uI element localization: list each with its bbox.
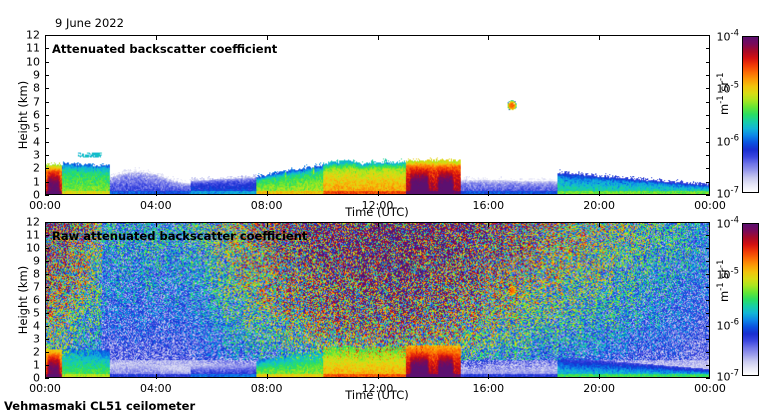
y-tick-mark-right xyxy=(706,235,710,236)
y-axis-title-panel1: Height (km) xyxy=(16,260,30,340)
colorbar-tick-label: 10-6 xyxy=(702,318,739,333)
colorbar-unit-panel0: m-1 sr-1 xyxy=(716,72,731,115)
y-tick-mark-right xyxy=(706,75,710,76)
y-tick-mark-right xyxy=(706,182,710,183)
x-tick-mark-top xyxy=(488,35,489,40)
y-tick-mark-right xyxy=(706,339,710,340)
x-tick-label: 00:00 xyxy=(29,382,61,395)
x-tick-label: 00:00 xyxy=(694,382,726,395)
y-tick-mark xyxy=(45,155,49,156)
y-tick-mark xyxy=(45,352,49,353)
y-tick-mark xyxy=(45,222,49,223)
x-tick-label: 20:00 xyxy=(583,382,615,395)
x-tick-mark xyxy=(267,191,268,196)
y-axis-title-panel0: Height (km) xyxy=(16,75,30,155)
y-tick-mark xyxy=(45,115,49,116)
y-tick-label: 10 xyxy=(14,242,40,255)
y-tick-mark xyxy=(45,88,49,89)
colorbar-panel0 xyxy=(742,36,759,193)
y-tick-mark-right xyxy=(706,128,710,129)
y-tick-mark xyxy=(45,274,49,275)
x-tick-mark-top xyxy=(267,35,268,40)
y-tick-mark-right xyxy=(706,115,710,116)
x-tick-mark-top xyxy=(156,222,157,227)
y-tick-mark-right xyxy=(706,365,710,366)
y-tick-mark xyxy=(45,261,49,262)
y-tick-mark-right xyxy=(706,62,710,63)
x-tick-mark xyxy=(488,374,489,379)
colorbar-panel1 xyxy=(742,223,759,376)
x-tick-mark-top xyxy=(378,222,379,227)
y-tick-label: 10 xyxy=(14,55,40,68)
x-tick-label: 16:00 xyxy=(472,199,504,212)
y-tick-mark-right xyxy=(706,352,710,353)
y-tick-mark xyxy=(45,248,49,249)
y-tick-mark xyxy=(45,128,49,129)
x-tick-mark-top xyxy=(488,222,489,227)
y-tick-label: 2 xyxy=(14,162,40,175)
colorbar-tick-label: 10-4 xyxy=(702,216,739,231)
y-tick-mark-right xyxy=(706,168,710,169)
y-tick-mark-right xyxy=(706,313,710,314)
y-tick-mark xyxy=(45,48,49,49)
x-tick-mark xyxy=(378,191,379,196)
y-tick-label: 11 xyxy=(14,229,40,242)
x-tick-label: 08:00 xyxy=(251,382,283,395)
x-tick-mark-top xyxy=(378,35,379,40)
y-tick-mark xyxy=(45,168,49,169)
x-tick-mark xyxy=(156,191,157,196)
y-tick-mark-right xyxy=(706,261,710,262)
y-tick-mark-right xyxy=(706,287,710,288)
instrument-caption: Vehmasmaki CL51 ceilometer xyxy=(4,399,195,413)
y-tick-label: 2 xyxy=(14,346,40,359)
y-tick-mark xyxy=(45,300,49,301)
y-tick-mark xyxy=(45,235,49,236)
y-tick-mark xyxy=(45,378,49,379)
x-tick-mark-top xyxy=(156,35,157,40)
colorbar-tick-label: 10-4 xyxy=(702,29,739,44)
y-tick-label: 11 xyxy=(14,42,40,55)
plot-area-raw-attenuated-backscatter[interactable] xyxy=(45,222,710,378)
y-tick-mark xyxy=(45,35,49,36)
colorbar-tick-label: 10-6 xyxy=(702,133,739,148)
y-tick-mark xyxy=(45,75,49,76)
y-tick-mark xyxy=(45,365,49,366)
y-tick-mark-right xyxy=(706,300,710,301)
ceilometer-quicklook: 9 June 2022 Attenuated backscatter coeff… xyxy=(0,0,780,420)
y-tick-mark xyxy=(45,313,49,314)
x-tick-mark xyxy=(378,374,379,379)
y-tick-mark-right xyxy=(706,248,710,249)
date-label: 9 June 2022 xyxy=(55,16,124,30)
x-tick-mark-top xyxy=(599,222,600,227)
y-tick-mark xyxy=(45,195,49,196)
y-tick-label: 1 xyxy=(14,359,40,372)
x-tick-label: 20:00 xyxy=(583,199,615,212)
x-tick-mark xyxy=(599,374,600,379)
x-axis-title-panel0: Time (UTC) xyxy=(345,205,409,219)
colorbar-tick-label: 10-7 xyxy=(702,369,739,384)
x-axis-title-panel1: Time (UTC) xyxy=(345,388,409,402)
x-tick-label: 04:00 xyxy=(140,382,172,395)
y-tick-mark-right xyxy=(706,48,710,49)
x-tick-mark xyxy=(599,191,600,196)
x-tick-mark xyxy=(156,374,157,379)
y-tick-mark xyxy=(45,339,49,340)
y-tick-mark-right xyxy=(706,102,710,103)
x-tick-label: 04:00 xyxy=(140,199,172,212)
y-tick-mark xyxy=(45,287,49,288)
plot-area-attenuated-backscatter[interactable] xyxy=(45,35,710,195)
y-tick-label: 1 xyxy=(14,175,40,188)
x-tick-mark-top xyxy=(267,222,268,227)
y-tick-mark xyxy=(45,102,49,103)
x-tick-label: 16:00 xyxy=(472,382,504,395)
x-tick-label: 00:00 xyxy=(694,199,726,212)
colorbar-tick-label: 10-7 xyxy=(702,186,739,201)
y-tick-label: 12 xyxy=(14,216,40,229)
y-tick-mark-right xyxy=(706,155,710,156)
y-tick-mark xyxy=(45,62,49,63)
y-tick-mark xyxy=(45,182,49,183)
colorbar-unit-panel1: m-1 sr-1 xyxy=(716,259,731,302)
x-tick-mark-top xyxy=(599,35,600,40)
x-tick-label: 08:00 xyxy=(251,199,283,212)
y-tick-mark xyxy=(45,142,49,143)
x-tick-mark xyxy=(488,191,489,196)
y-tick-mark xyxy=(45,326,49,327)
x-tick-label: 00:00 xyxy=(29,199,61,212)
y-tick-label: 12 xyxy=(14,29,40,42)
x-tick-mark xyxy=(267,374,268,379)
